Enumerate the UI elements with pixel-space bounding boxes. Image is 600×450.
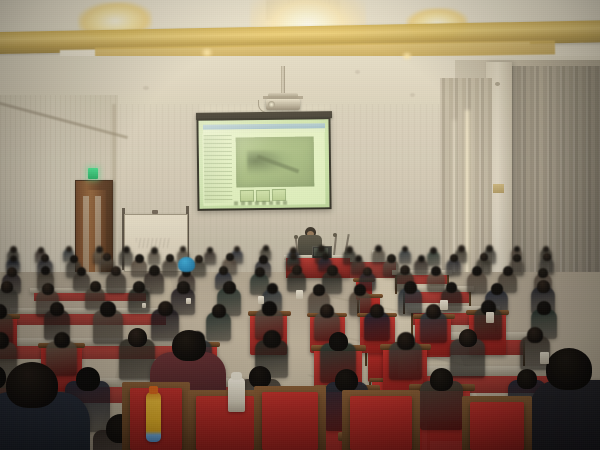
audience-member-head xyxy=(41,254,49,262)
audience-member-head xyxy=(1,281,13,293)
audience-member-head xyxy=(486,245,493,252)
thermos-cup-lid xyxy=(231,372,242,380)
audience-member-head xyxy=(226,253,234,261)
audience-member-head xyxy=(212,304,226,318)
ceiling-sprinkler-5-icon xyxy=(410,93,415,97)
audience-member-head xyxy=(149,265,160,276)
audience-member-head xyxy=(133,281,145,293)
audience-member-head xyxy=(151,247,158,254)
audience-member-head xyxy=(123,246,130,253)
audience-member-head xyxy=(54,332,70,348)
audience-member-head xyxy=(100,301,116,317)
audience-member-head xyxy=(38,247,44,253)
audience-member-head xyxy=(50,302,64,316)
audience-member-head xyxy=(329,332,348,351)
audience-member-head xyxy=(249,366,271,388)
audience-member-head xyxy=(426,304,441,319)
audience-member-head xyxy=(158,301,173,316)
audience-member-head xyxy=(397,332,415,350)
audience-member-head xyxy=(517,369,537,389)
paper-cup xyxy=(142,303,146,308)
audience-member-head xyxy=(103,253,111,261)
audience-member-head xyxy=(263,330,281,348)
audience-member-head-blue-hat xyxy=(178,257,195,272)
audience-member-head xyxy=(375,245,382,252)
audience-member-head xyxy=(290,253,297,260)
audience-member-head xyxy=(458,245,465,252)
projector-pole-mount xyxy=(281,66,285,96)
audience-member-head xyxy=(320,304,334,318)
audience-member-head xyxy=(262,301,277,316)
audience-member-head xyxy=(472,266,482,276)
audience-member-head xyxy=(537,280,550,293)
audience-member-head xyxy=(527,327,543,343)
audience-member-head xyxy=(128,328,147,347)
beverage-bottle xyxy=(146,392,161,442)
audience-member-head xyxy=(514,246,520,252)
audience-member-head xyxy=(543,246,549,252)
audience-member-head xyxy=(76,367,100,391)
paper-cup xyxy=(440,300,448,310)
audience-member-head xyxy=(363,267,372,276)
whiteboard-clip-icon xyxy=(152,210,158,214)
audience-member-head xyxy=(459,329,477,347)
ceiling-sprinkler-1-icon xyxy=(143,86,149,90)
audience-member-head xyxy=(259,255,268,264)
foreground-person-right-body xyxy=(530,380,600,450)
conference-room-photo xyxy=(0,0,600,450)
paper-cup xyxy=(296,290,303,299)
audience-member-head xyxy=(267,283,278,294)
audience-member-head xyxy=(223,281,236,294)
audience-member-head xyxy=(446,282,457,293)
foreground-person-right-head xyxy=(546,348,592,390)
audience-member-head xyxy=(335,369,358,392)
audience-member-head xyxy=(180,246,186,252)
audience-member-head xyxy=(207,247,213,253)
audience-member-head xyxy=(135,254,144,263)
audience-member-head xyxy=(346,246,353,253)
audience-member-head xyxy=(370,304,384,318)
column-fixture-icon xyxy=(495,82,500,86)
audience-member-head xyxy=(480,253,488,261)
audience-member-head xyxy=(10,246,17,253)
audience-member-head xyxy=(430,247,437,254)
audience-member-head xyxy=(255,267,265,277)
audience-member-head xyxy=(491,283,503,295)
foreground-person-head xyxy=(6,362,58,408)
audience-member-head-front xyxy=(172,330,206,361)
paper-cup xyxy=(186,298,191,304)
audience-member-head xyxy=(10,255,17,262)
audience-member-head xyxy=(503,266,513,276)
exit-sign-icon xyxy=(88,168,98,179)
audience-member-body xyxy=(204,251,216,265)
audience-member-head xyxy=(354,284,366,296)
audience-member-head xyxy=(431,266,441,276)
audience-member-head xyxy=(418,255,425,262)
ceiling-spot-a-icon xyxy=(199,48,215,57)
audience-member-head xyxy=(166,254,174,262)
thermos-cup xyxy=(228,378,245,412)
foreground-chair-back xyxy=(196,396,254,450)
foreground-chair-back xyxy=(470,402,524,450)
foreground-chair-back xyxy=(350,396,412,450)
audience-member-head xyxy=(42,283,54,295)
audience-member-head xyxy=(513,254,521,262)
audience-member-head xyxy=(70,255,78,263)
audience-member-body xyxy=(399,250,411,264)
audience-member-head xyxy=(318,245,325,252)
ceiling-sprinkler-4-icon xyxy=(355,70,360,74)
projection-screen-glare xyxy=(198,119,329,209)
audience-member-head xyxy=(96,246,103,253)
audience-member-head xyxy=(543,253,551,261)
audience-member-head xyxy=(7,267,17,277)
audience-member-head xyxy=(322,253,329,260)
audience-member-head xyxy=(400,265,410,275)
audience-member-head xyxy=(313,284,325,296)
audience-member-head xyxy=(404,281,417,294)
paper-cup xyxy=(540,352,549,364)
paper-cup xyxy=(258,296,264,304)
audience-member-head xyxy=(195,255,203,263)
foreground-chair-back xyxy=(262,392,318,450)
audience-member-head xyxy=(327,265,338,276)
audience-member-head xyxy=(66,246,72,252)
audience-member-head xyxy=(234,246,240,252)
audience-member-head xyxy=(430,368,453,391)
audience-member-head xyxy=(537,301,551,315)
wall-outlet-plate xyxy=(493,184,504,193)
audience-member-head xyxy=(263,245,269,251)
audience-member-head xyxy=(450,254,458,262)
audience-member-head xyxy=(219,266,228,275)
audience-member-head xyxy=(538,268,548,278)
audience-member-head xyxy=(402,246,408,252)
projector-lens-icon xyxy=(268,101,275,108)
audience-member-head xyxy=(355,255,362,262)
audience-area xyxy=(0,225,600,450)
audience-member-head xyxy=(387,254,396,263)
audience-member-head xyxy=(292,265,302,275)
beverage-bottle-cap xyxy=(149,386,158,394)
audience-member-head xyxy=(111,266,121,276)
audience-member-head xyxy=(77,267,86,276)
audience-member-head xyxy=(177,281,190,294)
ceiling-spot-b-icon xyxy=(400,52,414,60)
paper-cup xyxy=(486,312,494,323)
audience-member-head xyxy=(90,281,101,292)
audience-member-head xyxy=(41,266,50,275)
